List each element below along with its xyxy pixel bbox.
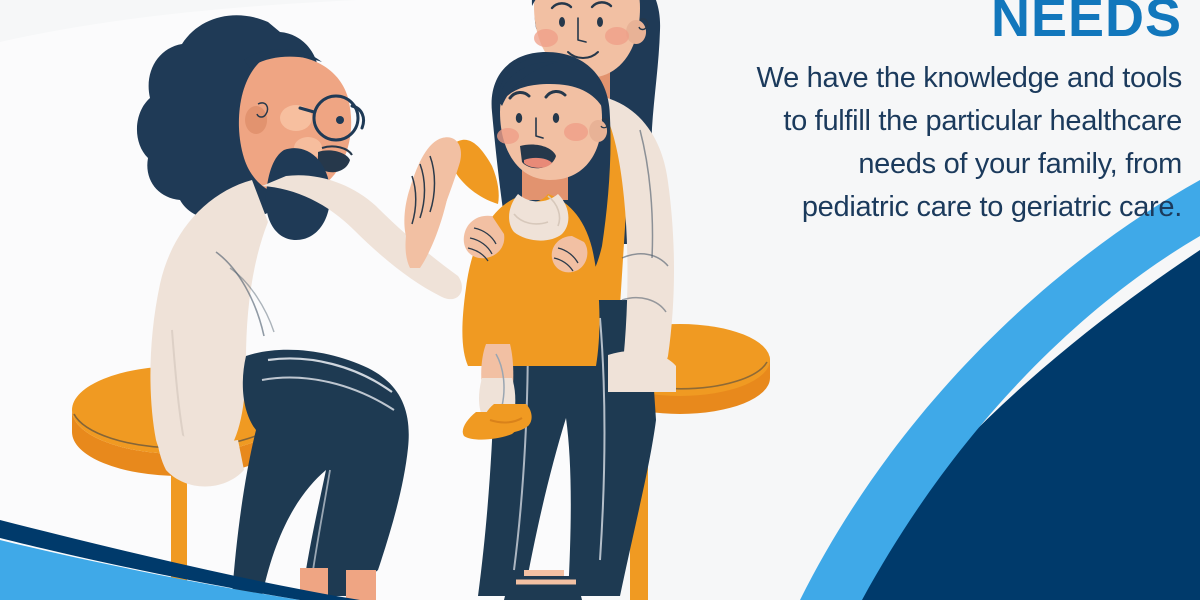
- doctor-ankle-front: [300, 568, 328, 600]
- mother-eye-right: [597, 17, 603, 27]
- copy-block: NEEDS We have the knowledge and tools to…: [662, 0, 1182, 229]
- mother-blush-right: [605, 27, 629, 45]
- doctor-hand: [404, 137, 461, 249]
- healthcare-promo-banner: NEEDS We have the knowledge and tools to…: [0, 0, 1200, 600]
- child-blush-right: [564, 123, 588, 141]
- mother-blush-left: [534, 29, 558, 47]
- mother-eye-left: [559, 17, 565, 27]
- doctor-ear: [245, 106, 267, 134]
- body-copy: We have the knowledge and tools to fulfi…: [662, 57, 1182, 229]
- child-ear-right: [589, 120, 607, 142]
- mother-ear: [626, 20, 646, 44]
- body-line-2: to fulfill the particular healthcare: [662, 100, 1182, 143]
- child-blush-left: [497, 128, 519, 144]
- child-eye-right: [553, 113, 559, 123]
- child-eye-left: [516, 113, 522, 123]
- doctor-eye: [336, 116, 344, 124]
- doctor-ankle-back: [346, 570, 376, 600]
- body-line-3: needs of your family, from: [662, 143, 1182, 186]
- body-line-1: We have the knowledge and tools: [662, 57, 1182, 100]
- page-title: NEEDS: [662, 0, 1182, 45]
- body-line-4: pediatric care to geriatric care.: [662, 186, 1182, 229]
